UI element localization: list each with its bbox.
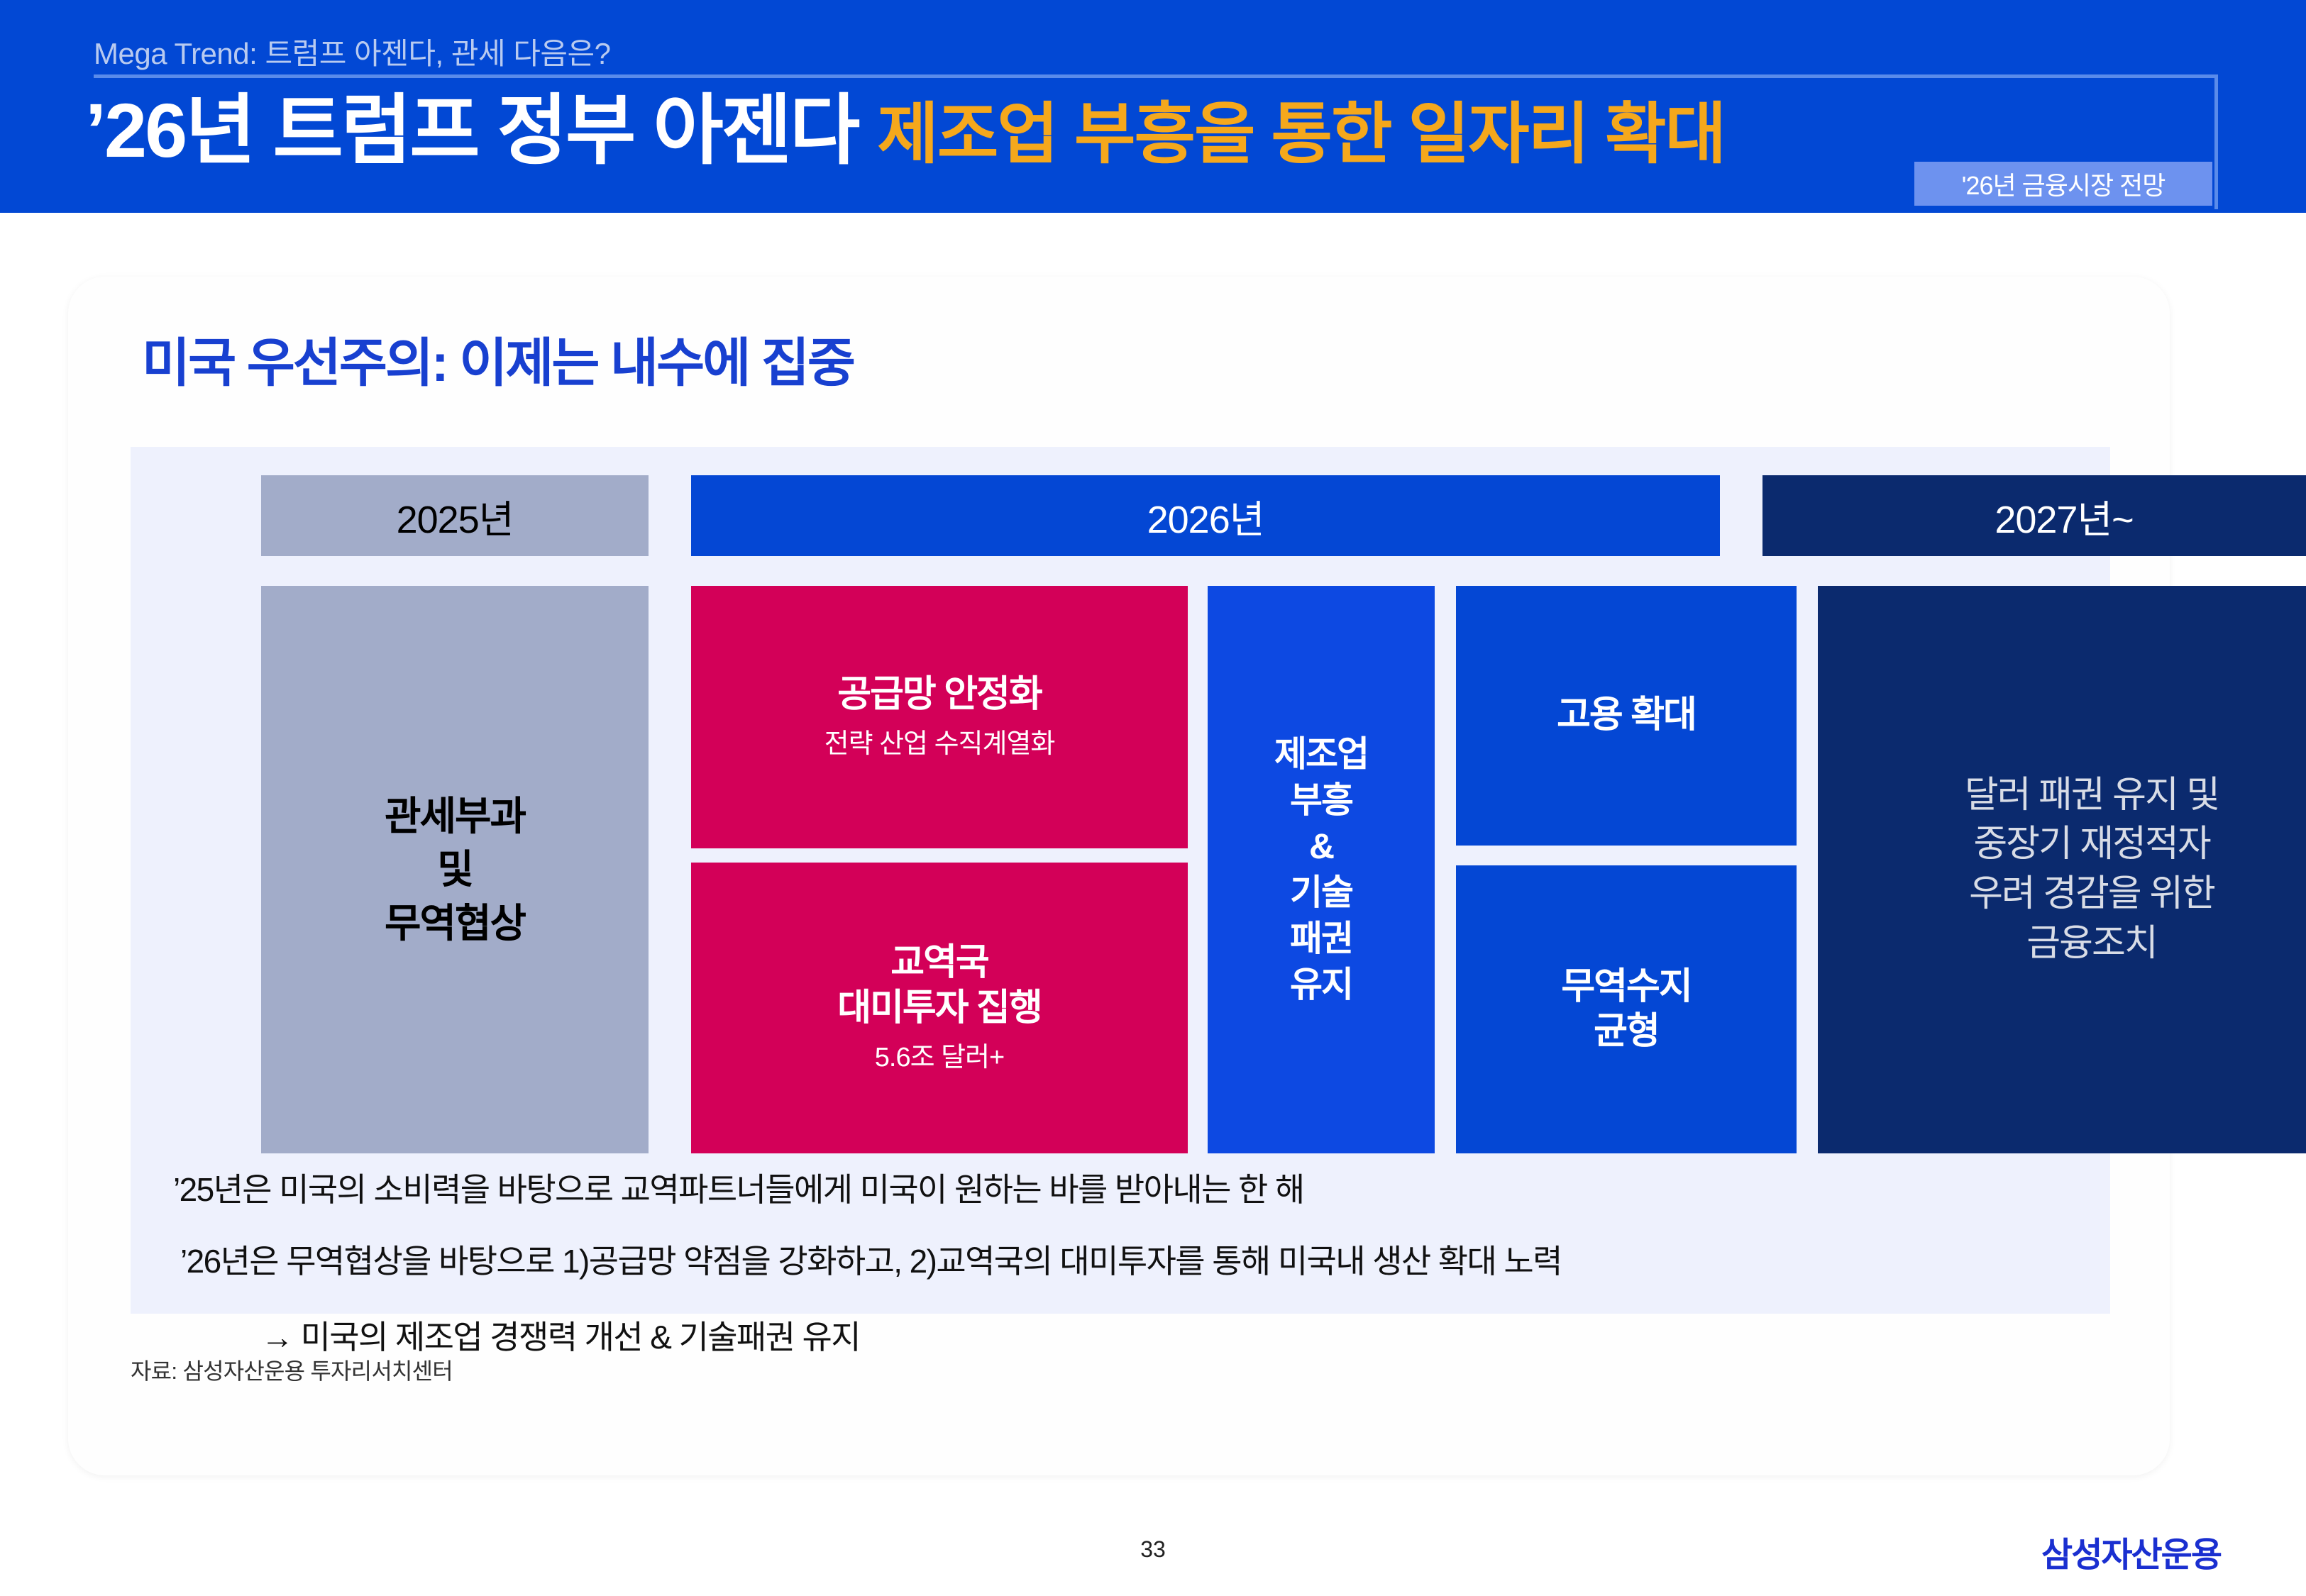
box-investment-subtext: 5.6조 달러+ (875, 1041, 1004, 1075)
chapter-badge: '26년 금융시장 전망 (1914, 162, 2212, 206)
box-tariff-headline: 관세부과및무역협상 (385, 789, 525, 949)
page-number: 33 (0, 1536, 2306, 1563)
box-trade-balance-headline: 무역수지균형 (1561, 965, 1691, 1055)
box-trade-balance: 무역수지균형 (1456, 865, 1797, 1153)
box-manufacturing-pillar-headline: 제조업부흥&기술패권유지 (1274, 731, 1368, 1008)
card-title: 미국 우선주의: 이제는 내수에 집중 (142, 321, 854, 397)
slide-root: Mega Trend: 트럼프 아젠다, 관세 다음은? ’26년 트럼프 정부… (0, 0, 2306, 1596)
year-header-2027: 2027년~ (1762, 475, 2306, 556)
box-supply-chain-subtext: 전략 산업 수직계열화 (824, 727, 1055, 762)
header-rule-tail (2214, 74, 2218, 209)
page-title: ’26년 트럼프 정부 아젠다 제조업 부흥을 통한 일자리 확대 (85, 85, 1725, 175)
bullet-item: ’25년은 미국의 소비력을 바탕으로 교역파트너들에게 미국이 원하는 바를 … (173, 1170, 2106, 1209)
header-eyebrow: Mega Trend: 트럼프 아젠다, 관세 다음은? (94, 30, 611, 73)
timeline-panel: 2025년 2026년 2027년~ 관세부과및무역협상 공급망 안정화 전략 … (131, 447, 2110, 1314)
bullet-item: → 미국의 제조업 경쟁력 개선 & 기술패권 유지 (261, 1318, 2106, 1357)
box-dollar-hegemony-headline: 달러 패권 유지 및중장기 재정적자우려 경감을 위한금융조치 (1965, 771, 2219, 969)
bullet-list: ’25년은 미국의 소비력을 바탕으로 교역파트너들에게 미국이 원하는 바를 … (148, 1170, 2106, 1358)
box-supply-chain-headline: 공급망 안정화 (837, 672, 1042, 717)
year-header-2025: 2025년 (261, 475, 649, 556)
box-investment: 교역국대미투자 집행 5.6조 달러+ (691, 863, 1188, 1153)
year-header-2026: 2026년 (691, 475, 1720, 556)
content-card: 미국 우선주의: 이제는 내수에 집중 2025년 2026년 2027년~ 관… (68, 277, 2170, 1475)
page-title-main: ’26년 트럼프 정부 아젠다 (85, 87, 858, 173)
source-note: 자료: 삼성자산운용 투자리서치센터 (131, 1353, 453, 1386)
box-manufacturing-pillar: 제조업부흥&기술패권유지 (1208, 586, 1435, 1153)
box-tariff-negotiation: 관세부과및무역협상 (261, 586, 649, 1153)
box-supply-chain: 공급망 안정화 전략 산업 수직계열화 (691, 586, 1188, 848)
brand-logo: 삼성자산운용 (2041, 1526, 2221, 1576)
box-employment: 고용 확대 (1456, 586, 1797, 846)
box-dollar-hegemony: 달러 패권 유지 및중장기 재정적자우려 경감을 위한금융조치 (1818, 586, 2306, 1153)
box-employment-headline: 고용 확대 (1557, 693, 1696, 738)
bullet-item: ’26년은 무역협상을 바탕으로 1)공급망 약점을 강화하고, 2)교역국의 … (180, 1242, 2106, 1281)
header-rule (94, 74, 2217, 78)
box-investment-headline: 교역국대미투자 집행 (837, 941, 1042, 1031)
page-title-accent: 제조업 부흥을 통한 일자리 확대 (877, 96, 1725, 171)
